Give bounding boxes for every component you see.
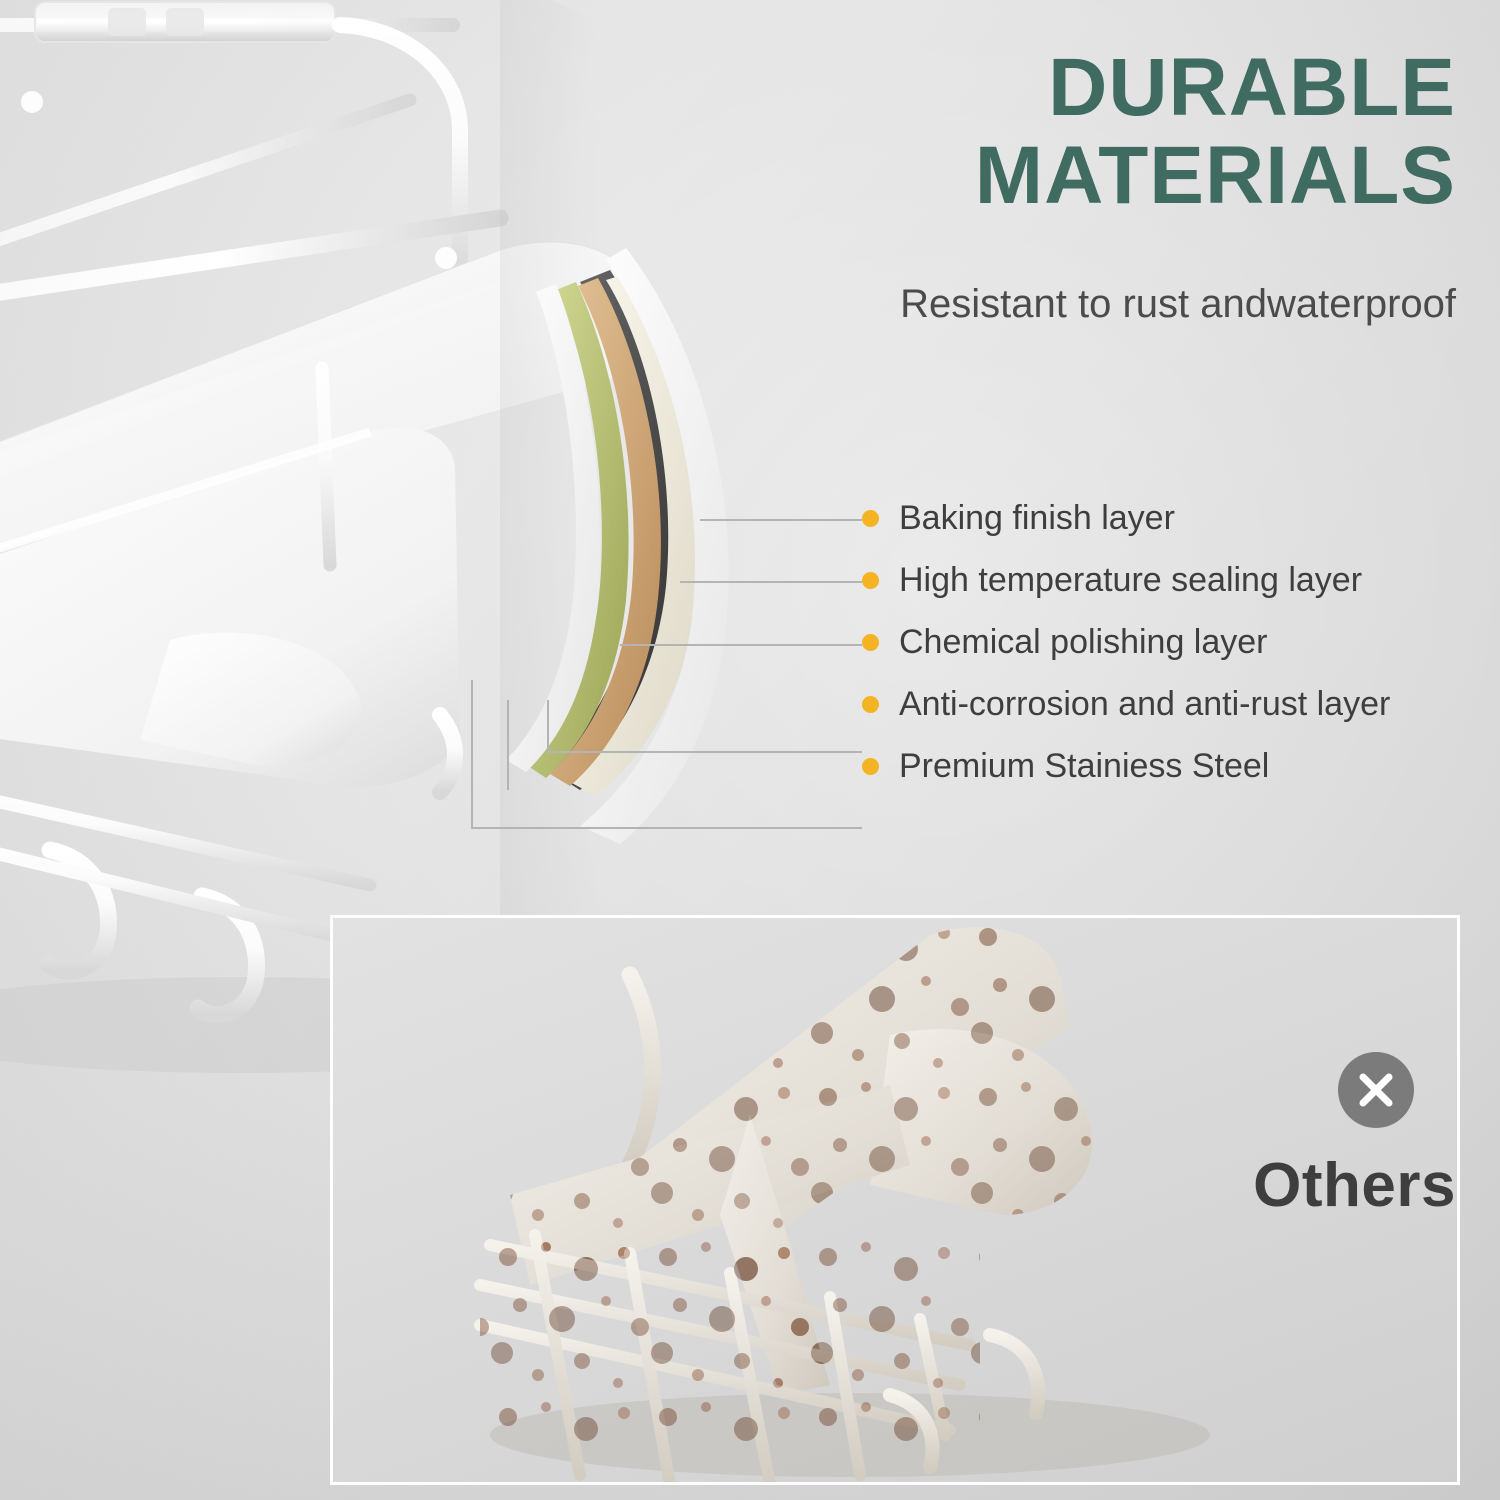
callout-item: High temperature sealing layer — [862, 549, 1390, 611]
callout-label: Anti-corrosion and anti-rust layer — [899, 685, 1390, 724]
bullet-dot-icon — [862, 572, 879, 589]
bullet-dot-icon — [862, 758, 879, 775]
callout-label: Baking finish layer — [899, 499, 1175, 538]
callout-item: Premium Stainiess Steel — [862, 735, 1390, 797]
product-infographic: DURABLE MATERIALS Resistant to rust andw… — [0, 0, 1500, 1500]
subtitle: Resistant to rust andwaterproof — [596, 282, 1456, 327]
bullet-dot-icon — [862, 696, 879, 713]
callout-label: Premium Stainiess Steel — [899, 747, 1269, 786]
callout-list: Baking finish layer High temperature sea… — [862, 487, 1390, 797]
bullet-dot-icon — [862, 634, 879, 651]
callout-item: Chemical polishing layer — [862, 611, 1390, 673]
comparison-label: Others — [1253, 1150, 1456, 1221]
callout-item: Baking finish layer — [862, 487, 1390, 549]
bullet-dot-icon — [862, 510, 879, 527]
callout-label: Chemical polishing layer — [899, 623, 1268, 662]
headline-line-2: MATERIALS — [636, 136, 1456, 216]
headline: DURABLE MATERIALS — [636, 48, 1456, 217]
headline-line-1: DURABLE — [636, 48, 1456, 128]
callout-item: Anti-corrosion and anti-rust layer — [862, 673, 1390, 735]
close-icon — [1338, 1052, 1414, 1128]
callout-label: High temperature sealing layer — [899, 561, 1362, 600]
